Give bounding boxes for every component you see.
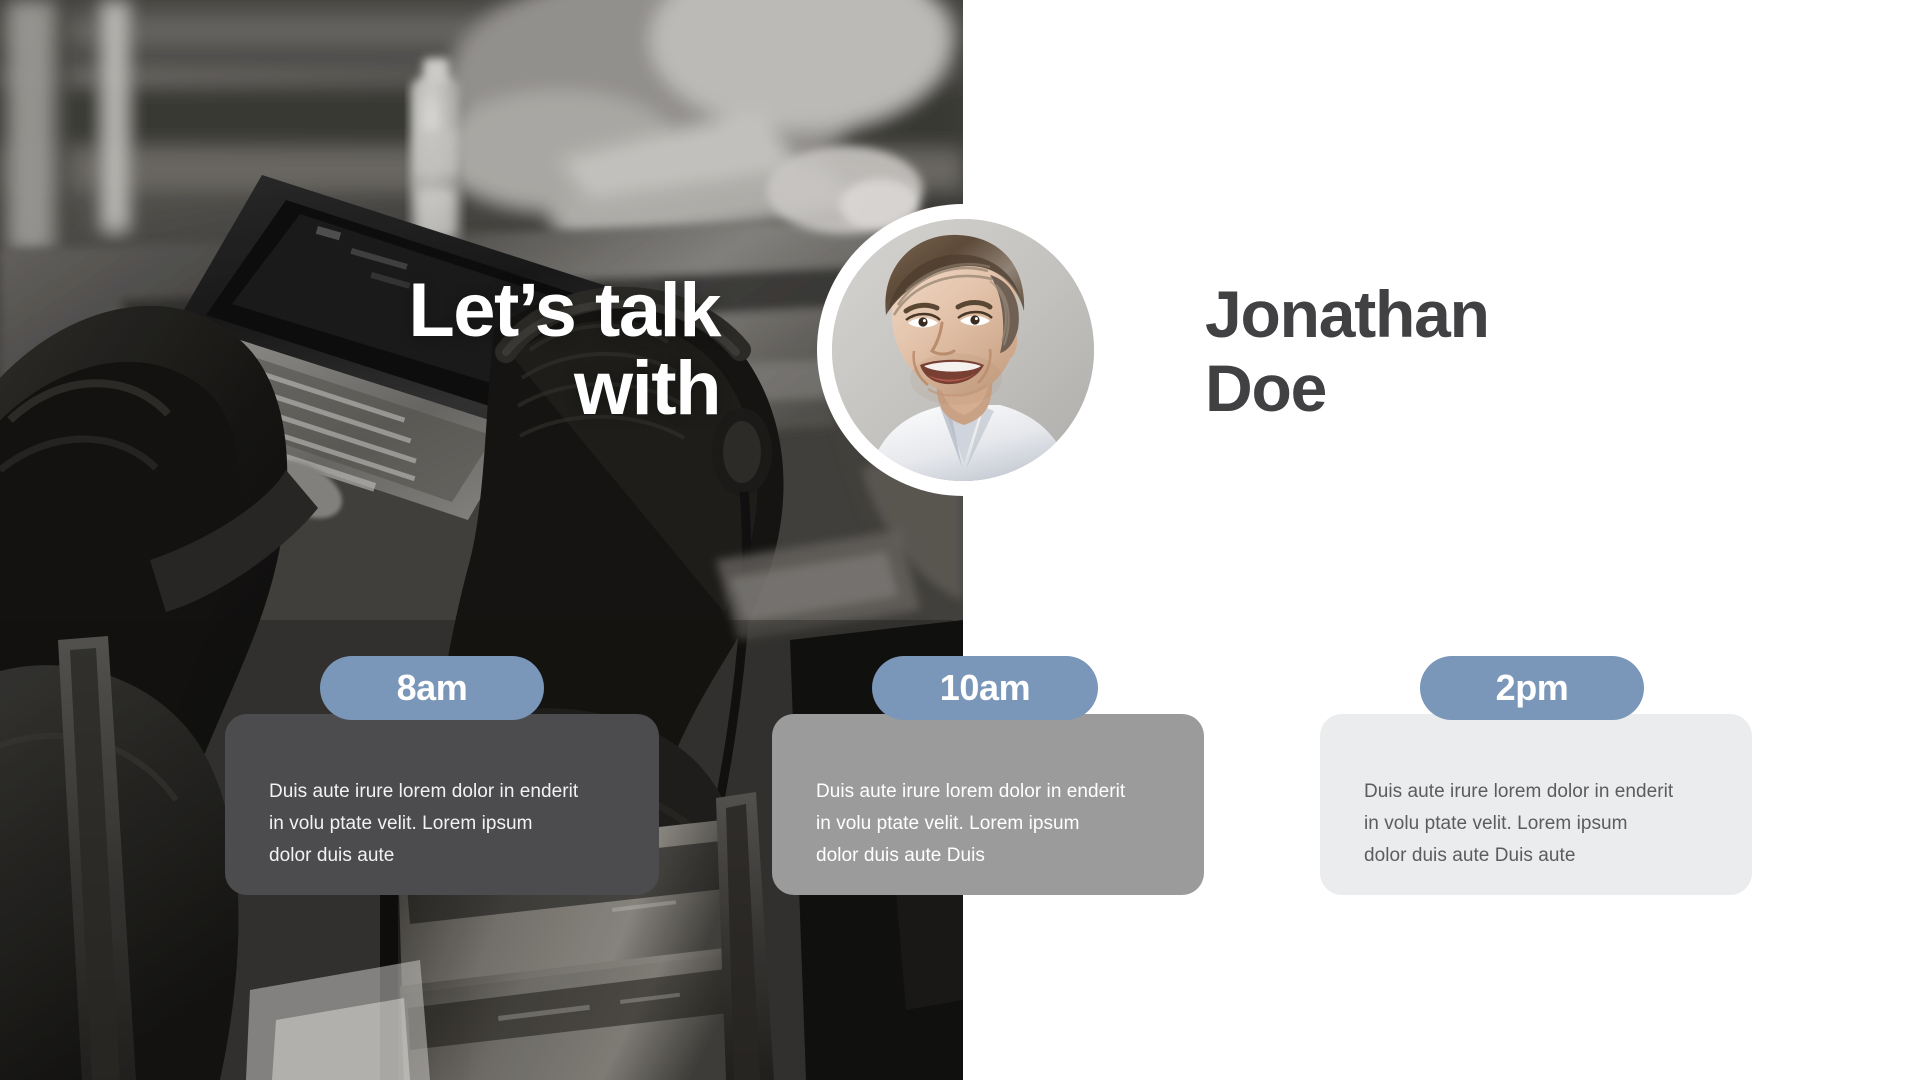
page-title-line-1: Let’s talk bbox=[200, 272, 720, 350]
person-name: Jonathan Doe bbox=[1205, 278, 1725, 426]
schedule-card-8am-body: Duis aute irure lorem dolor in enderit i… bbox=[225, 714, 659, 895]
avatar-photo bbox=[832, 219, 1094, 481]
schedule-card-2pm-body: Duis aute irure lorem dolor in enderit i… bbox=[1320, 714, 1752, 895]
card-text-line: dolor duis aute bbox=[269, 840, 615, 872]
time-badge-2pm[interactable]: 2pm bbox=[1420, 656, 1644, 720]
card-text-line: in volu ptate velit. Lorem ipsum bbox=[269, 808, 615, 840]
schedule-card-8am[interactable]: Duis aute irure lorem dolor in enderit i… bbox=[225, 714, 659, 895]
page-title-line-2: with bbox=[200, 350, 720, 428]
card-text-line: Duis aute irure lorem dolor in enderit bbox=[269, 776, 615, 808]
card-text-line: in volu ptate velit. Lorem ipsum bbox=[816, 808, 1160, 840]
person-first-name: Jonathan bbox=[1205, 278, 1725, 352]
schedule-card-10am-body: Duis aute irure lorem dolor in enderit i… bbox=[772, 714, 1204, 895]
person-last-name: Doe bbox=[1205, 352, 1725, 426]
page-title: Let’s talk with bbox=[200, 272, 720, 427]
card-text-line: dolor duis aute Duis bbox=[816, 840, 1160, 872]
card-text-line: Duis aute irure lorem dolor in enderit bbox=[1364, 776, 1708, 808]
time-badge-8am[interactable]: 8am bbox=[320, 656, 544, 720]
card-text-line: in volu ptate velit. Lorem ipsum bbox=[1364, 808, 1708, 840]
card-text-line: Duis aute irure lorem dolor in enderit bbox=[816, 776, 1160, 808]
schedule-list: Duis aute irure lorem dolor in enderit i… bbox=[0, 0, 1920, 1080]
time-badge-10am[interactable]: 10am bbox=[872, 656, 1098, 720]
schedule-card-2pm[interactable]: Duis aute irure lorem dolor in enderit i… bbox=[1320, 714, 1752, 895]
schedule-card-10am[interactable]: Duis aute irure lorem dolor in enderit i… bbox=[772, 714, 1204, 895]
avatar bbox=[817, 204, 1109, 496]
avatar-portrait-icon bbox=[832, 219, 1094, 481]
card-text-line: dolor duis aute Duis aute bbox=[1364, 840, 1708, 872]
slide-canvas: Let’s talk with Jonathan Doe bbox=[0, 0, 1920, 1080]
